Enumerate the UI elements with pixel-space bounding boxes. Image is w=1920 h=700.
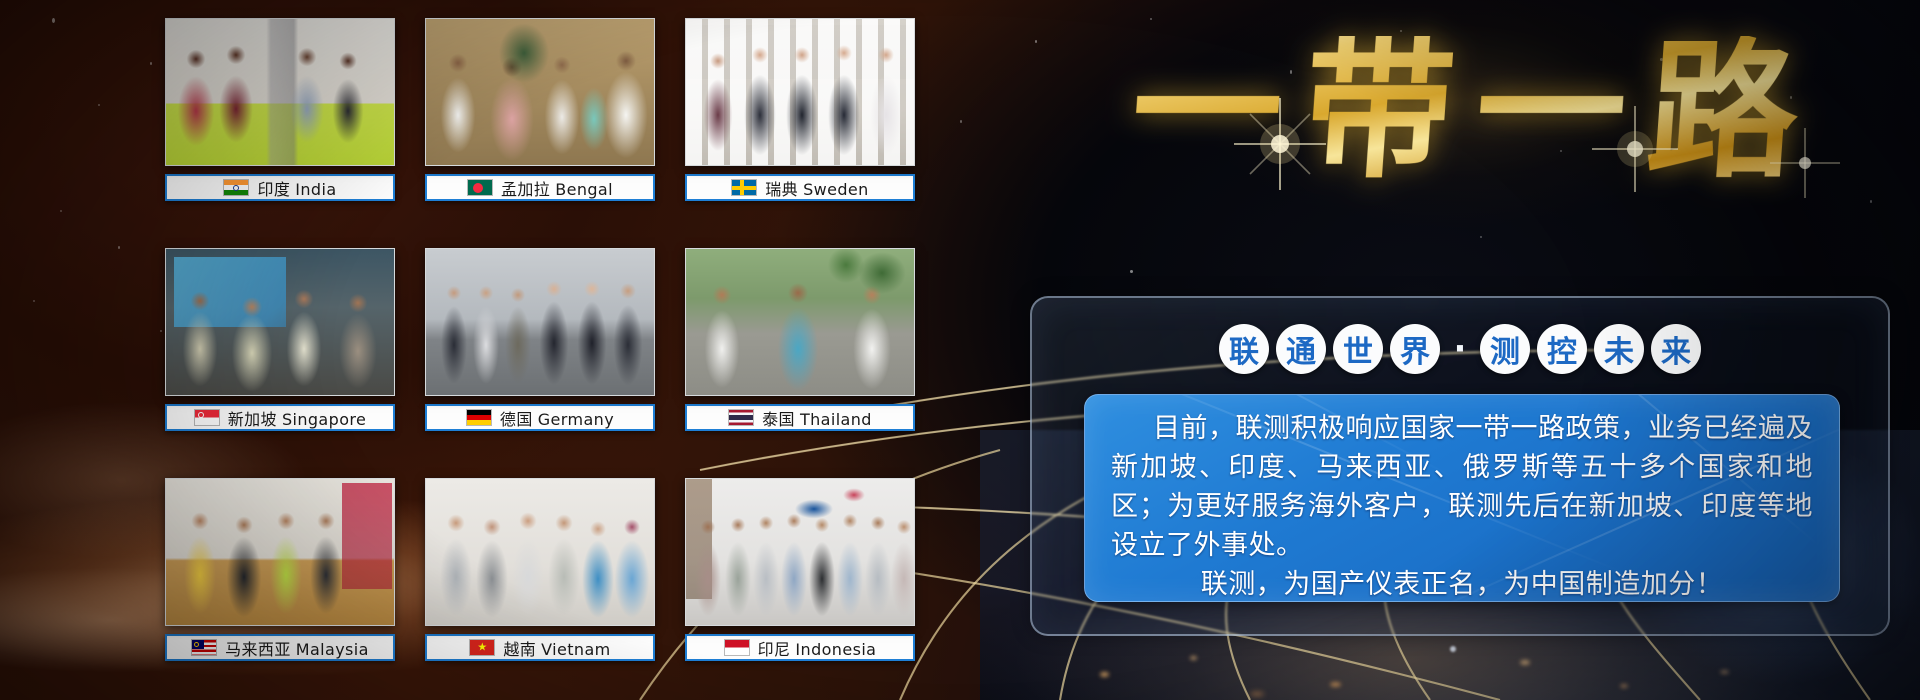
country-label-indonesia[interactable]: 印尼Indonesia [685,634,915,661]
flag-sweden-icon [731,179,757,196]
flag-thailand-icon [728,409,754,426]
slogan-pills: 联 通 世 界 · 测 控 未 来 [1032,320,1888,378]
slogan-pill: 测 [1480,324,1530,374]
flag-vietnam-icon: ★ [469,639,495,656]
country-label-india[interactable]: 印度India [165,174,395,201]
banner-stage: 印度India 孟加拉Bengal [0,0,1920,700]
gallery-card-indonesia[interactable]: 印尼Indonesia [685,478,915,661]
country-label-malaysia[interactable]: 马来西亚Malaysia [165,634,395,661]
country-label-text: 越南Vietnam [503,636,610,660]
gallery-card-sweden[interactable]: 瑞典Sweden [685,18,915,201]
country-label-text: 孟加拉Bengal [501,176,613,200]
country-label-sweden[interactable]: 瑞典Sweden [685,174,915,201]
country-label-text: 瑞典Sweden [765,176,868,200]
slogan-pill: 联 [1219,324,1269,374]
blurb-paragraph: 目前，联测积极响应国家一带一路政策，业务已经遍及新加坡、印度、马来西亚、俄罗斯等… [1111,409,1813,565]
photo-indonesia-ashcroft-office [685,478,915,626]
flag-india-icon [223,179,249,196]
country-label-text: 印度India [257,176,336,200]
country-label-thailand[interactable]: 泰国Thailand [685,404,915,431]
gallery-card-malaysia[interactable]: 马来西亚Malaysia [165,478,395,661]
country-label-text: 泰国Thailand [762,406,872,430]
gallery-card-india[interactable]: 印度India [165,18,395,201]
country-label-bengal[interactable]: 孟加拉Bengal [425,174,655,201]
gallery-card-germany[interactable]: 德国Germany [425,248,655,431]
headline-belt-and-road: 一带一路 [1020,6,1910,216]
country-label-text: 德国Germany [500,406,614,430]
flag-malaysia-icon [191,639,217,656]
photo-sweden-office-group [685,18,915,166]
slogan-pill: 通 [1276,324,1326,374]
photo-malaysia-tradeshow-group [165,478,395,626]
country-label-vietnam[interactable]: ★ 越南Vietnam [425,634,655,661]
blurb-tagline: 联测，为国产仪表正名，为中国制造加分！ [1111,565,1813,602]
photo-india-exhibition-booth [165,18,395,166]
slogan-pill: 界 [1390,324,1440,374]
photo-bangladesh-factory-group [425,18,655,166]
country-label-germany[interactable]: 德国Germany [425,404,655,431]
gallery-card-vietnam[interactable]: ★ 越南Vietnam [425,478,655,661]
headline-text: 一带一路 [1105,36,1826,186]
photo-vietnam-office-group [425,478,655,626]
info-panel: 联 通 世 界 · 测 控 未 来 目前，联测积极响应国家一带一路政策，业务已经… [1030,296,1890,636]
gallery-card-bengal[interactable]: 孟加拉Bengal [425,18,655,201]
photo-thailand-outdoor-group [685,248,915,396]
country-label-text: 印尼Indonesia [758,636,877,660]
country-label-singapore[interactable]: 新加坡Singapore [165,404,395,431]
slogan-separator-dot: · [1447,324,1473,374]
country-label-text: 新加坡Singapore [228,406,367,430]
flag-indonesia-icon [724,639,750,656]
flag-singapore-icon [194,409,220,426]
country-label-text: 马来西亚Malaysia [225,636,369,660]
photo-germany-jumo-visit [425,248,655,396]
gallery-card-singapore[interactable]: 新加坡Singapore [165,248,395,431]
photo-singapore-meeting-group [165,248,395,396]
gallery-card-thailand[interactable]: 泰国Thailand [685,248,915,431]
flag-bangladesh-icon [467,179,493,196]
blurb-box: 目前，联测积极响应国家一带一路政策，业务已经遍及新加坡、印度、马来西亚、俄罗斯等… [1084,394,1840,602]
slogan-pill: 来 [1651,324,1701,374]
slogan-pill: 世 [1333,324,1383,374]
slogan-pill: 未 [1594,324,1644,374]
flag-germany-icon [466,409,492,426]
slogan-pill: 控 [1537,324,1587,374]
country-gallery-grid: 印度India 孟加拉Bengal [165,18,920,686]
